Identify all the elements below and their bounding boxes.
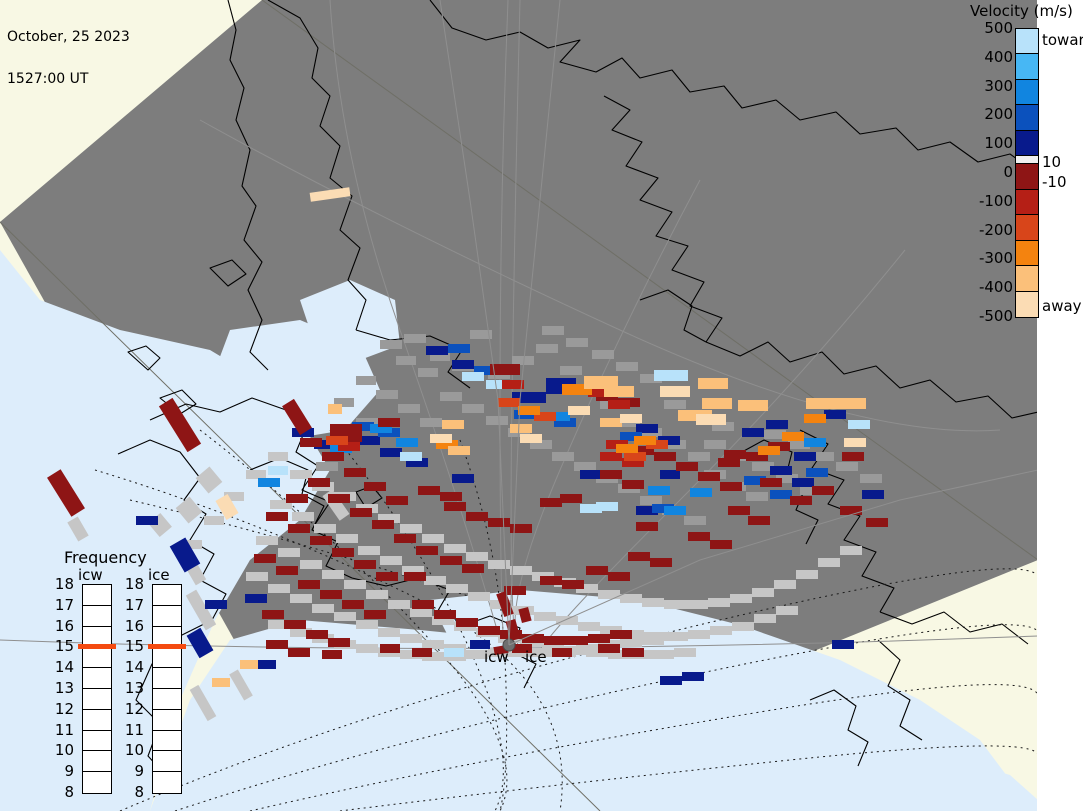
colorbar-band-away-0	[1016, 164, 1038, 189]
colorbar-tick-0: 0	[1003, 166, 1013, 178]
frequency-ticks-ice: 18171615141312111098	[122, 584, 144, 794]
frequency-segment-7	[153, 731, 181, 752]
colorbar-tick-400: 400	[984, 51, 1013, 63]
site-label-ice: ice	[525, 648, 547, 666]
frequency-tick-15: 15	[55, 640, 74, 652]
frequency-tick-17: 17	[125, 599, 144, 611]
frequency-tick-18: 18	[55, 578, 74, 590]
frequency-segment-5	[83, 689, 111, 710]
frequency-segment-9	[83, 772, 111, 793]
frequency-tick-11: 11	[55, 724, 74, 736]
frequency-segment-0	[83, 585, 111, 606]
superdarn-velocity-plot: October, 25 2023 1527:00 UT icw ice Freq…	[0, 0, 1083, 811]
timestamp-block: October, 25 2023 1527:00 UT	[7, 2, 130, 114]
frequency-tick-16: 16	[125, 620, 144, 632]
frequency-tick-14: 14	[125, 661, 144, 673]
colorbar-label-toward: toward	[1042, 34, 1083, 46]
frequency-marker-icw	[78, 644, 116, 649]
frequency-segment-9	[153, 772, 181, 793]
colorbar-tick-500: 500	[984, 22, 1013, 34]
frequency-segment-8	[153, 751, 181, 772]
frequency-gauge-label-icw: icw	[78, 566, 103, 584]
frequency-tick-10: 10	[55, 744, 74, 756]
colorbar-band-zero	[1016, 156, 1038, 164]
frequency-segment-1	[153, 606, 181, 627]
colorbar-tick-100: 100	[984, 137, 1013, 149]
frequency-tick-8: 8	[64, 786, 74, 798]
colorbar-side-labels: toward10-10away	[1042, 28, 1083, 318]
colorbar-band-toward-4	[1016, 131, 1038, 156]
frequency-segment-0	[153, 585, 181, 606]
frequency-marker-ice	[148, 644, 186, 649]
frequency-segment-1	[83, 606, 111, 627]
frequency-gauge-label-ice: ice	[148, 566, 170, 584]
frequency-tick-13: 13	[125, 682, 144, 694]
colorbar-tick-neg300: -300	[979, 252, 1013, 264]
colorbar-band-away-3	[1016, 241, 1038, 266]
frequency-segment-3	[83, 647, 111, 668]
colorbar-tick-neg400: -400	[979, 281, 1013, 293]
colorbar-band-toward-3	[1016, 105, 1038, 130]
frequency-tick-10: 10	[125, 744, 144, 756]
frequency-tick-18: 18	[125, 578, 144, 590]
colorbar-band-toward-1	[1016, 54, 1038, 79]
colorbar-panel: Velocity (m/s) 5004003002001000-100-200-…	[1037, 0, 1083, 811]
frequency-segment-6	[83, 710, 111, 731]
colorbar-tick-neg100: -100	[979, 195, 1013, 207]
frequency-legend: Frequency icw 18171615141312111098 ice 1…	[56, 548, 186, 798]
frequency-segment-8	[83, 751, 111, 772]
colorbar-band-away-1	[1016, 190, 1038, 215]
colorbar-tick-neg200: -200	[979, 224, 1013, 236]
frequency-tick-14: 14	[55, 661, 74, 673]
colorbar-band-toward-2	[1016, 80, 1038, 105]
plot-time: 1527:00 UT	[7, 72, 130, 86]
frequency-segment-4	[153, 668, 181, 689]
frequency-segment-4	[83, 668, 111, 689]
frequency-tick-16: 16	[55, 620, 74, 632]
frequency-tick-9: 9	[134, 765, 144, 777]
frequency-segment-6	[153, 710, 181, 731]
frequency-legend-title: Frequency	[64, 548, 147, 567]
frequency-tick-8: 8	[134, 786, 144, 798]
colorbar-tick-300: 300	[984, 80, 1013, 92]
frequency-segment-7	[83, 731, 111, 752]
frequency-tick-15: 15	[125, 640, 144, 652]
frequency-tick-13: 13	[55, 682, 74, 694]
frequency-tick-9: 9	[64, 765, 74, 777]
polar-map-canvas[interactable]: October, 25 2023 1527:00 UT icw ice Freq…	[0, 0, 1038, 811]
colorbar-label-away: away	[1042, 300, 1082, 312]
colorbar-tick-200: 200	[984, 108, 1013, 120]
colorbar-label-10: 10	[1042, 156, 1061, 168]
colorbar-band-toward-0	[1016, 29, 1038, 54]
frequency-tick-11: 11	[125, 724, 144, 736]
frequency-gauge-icw[interactable]	[82, 584, 112, 794]
frequency-gauge-ice[interactable]	[152, 584, 182, 794]
colorbar-gradient[interactable]	[1015, 28, 1039, 318]
site-label-icw: icw	[484, 648, 509, 666]
frequency-tick-12: 12	[125, 703, 144, 715]
colorbar-tick-neg500: -500	[979, 310, 1013, 322]
frequency-segment-5	[153, 689, 181, 710]
colorbar-tick-labels: 5004003002001000-100-200-300-400-500	[947, 28, 1013, 318]
frequency-tick-12: 12	[55, 703, 74, 715]
plot-date: October, 25 2023	[7, 30, 130, 44]
colorbar-band-away-5	[1016, 292, 1038, 317]
colorbar-label-neg10: -10	[1042, 176, 1067, 188]
colorbar-band-away-2	[1016, 215, 1038, 240]
frequency-tick-17: 17	[55, 599, 74, 611]
colorbar-title: Velocity (m/s)	[970, 2, 1083, 20]
frequency-segment-3	[153, 647, 181, 668]
colorbar-band-away-4	[1016, 266, 1038, 291]
frequency-ticks-icw: 18171615141312111098	[52, 584, 74, 794]
